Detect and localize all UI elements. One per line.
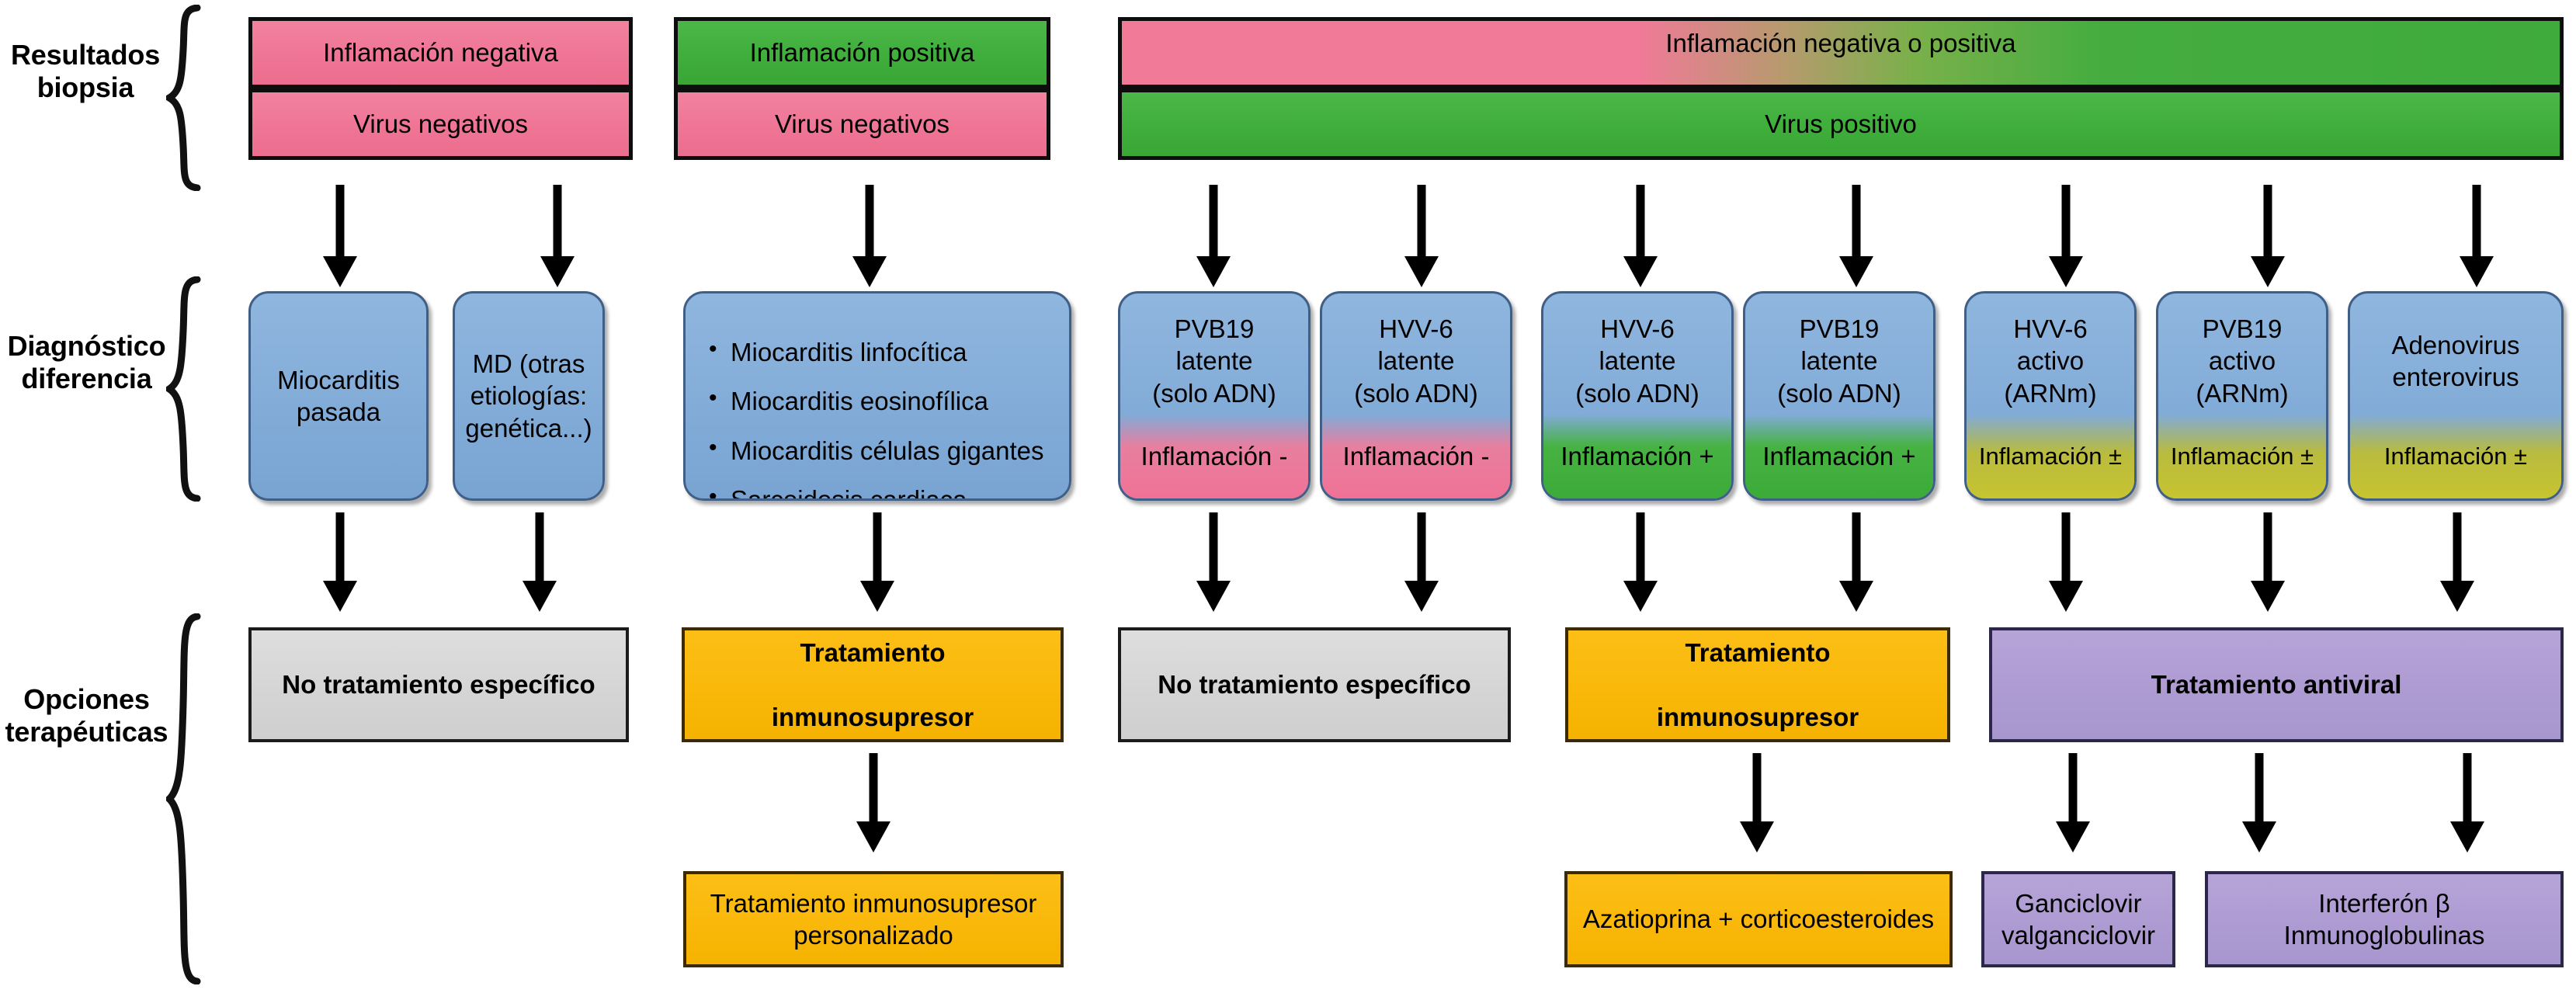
diag-hvv6-activo: HVV-6 activo (ARNm) Inflamación ± <box>1964 291 2137 501</box>
arrow-diag8-to-tx5 <box>2048 512 2084 612</box>
list-item: Miocarditis linfocítica <box>707 336 1054 368</box>
diag-status-badge: Inflamación + <box>1543 415 1731 498</box>
diag-title: HVV-6 latente (solo ADN) <box>1322 293 1510 415</box>
diag-pvb19-activo: PVB19 activo (ARNm) Inflamación ± <box>2156 291 2328 501</box>
arrow-biopsy3-to-diag10 <box>2459 185 2494 287</box>
diag-hvv6-latente-2: HVV-6 latente (solo ADN) Inflamación + <box>1541 291 1734 501</box>
tx-inmunosupresor-1: Tratamiento inmunosupresor <box>682 627 1064 742</box>
list-item: Miocarditis eosinofílica <box>707 385 1054 417</box>
diag-title: PVB19 latente (solo ADN) <box>1120 293 1308 415</box>
flowchart-canvas: Resultados biopsia Diagnóstico diferenci… <box>0 0 2576 1000</box>
arrow-biopsy3-to-diag7 <box>1838 185 1874 287</box>
biopsy-inflammation-3: Inflamación negativa o positiva <box>1118 17 2564 89</box>
diag-status-badge: Inflamación - <box>1120 415 1308 498</box>
diag-status-badge: Inflamación + <box>1745 415 1933 498</box>
diag-status-badge: Inflamación ± <box>2158 415 2326 498</box>
list-item: Sarcoidosis cardiaca <box>707 484 1054 501</box>
row-label-diagnostico-diferencia: Diagnóstico diferencia <box>3 330 170 396</box>
biopsy-virus-1: Virus negativos <box>248 89 633 160</box>
tx-azatioprina: Azatioprina + corticoesteroides <box>1564 871 1953 967</box>
diag-adenovirus-enterovirus: Adenovirus enterovirus Inflamación ± <box>2348 291 2564 501</box>
biopsy-inflammation-1: Inflamación negativa <box>248 17 633 89</box>
diag-title: PVB19 latente (solo ADN) <box>1745 293 1933 415</box>
row-label-opciones-terapeuticas: Opciones terapéuticas <box>3 683 170 749</box>
arrow-diag6-to-tx4 <box>1623 512 1658 612</box>
arrow-diag9-to-tx5 <box>2250 512 2286 612</box>
tx-interferon: Interferón β Inmunoglobulinas <box>2205 871 2564 967</box>
tx-no-tratamiento-2: No tratamiento específico <box>1118 627 1511 742</box>
diag-title: Miocarditis pasada <box>251 293 426 498</box>
arrow-tx5-to-interferon-b <box>2449 753 2485 852</box>
arrow-biopsy1-to-diag2 <box>540 185 575 287</box>
diag-md-otras-etiologias: MD (otras etiologías: genética...) <box>453 291 605 501</box>
tx-inmunosupresor-2: Tratamiento inmunosupresor <box>1565 627 1950 742</box>
tx-antiviral: Tratamiento antiviral <box>1989 627 2564 742</box>
diag-pvb19-latente-1: PVB19 latente (solo ADN) Inflamación - <box>1118 291 1311 501</box>
arrow-diag5-to-tx3 <box>1404 512 1439 612</box>
brace-resultados-biopsia <box>166 5 202 191</box>
tx-inmunosupresor-personalizado: Tratamiento inmunosupresor personalizado <box>683 871 1064 967</box>
diag-pvb19-latente-2: PVB19 latente (solo ADN) Inflamación + <box>1743 291 1935 501</box>
arrow-diag7-to-tx4 <box>1838 512 1874 612</box>
diag-title: Adenovirus enterovirus <box>2350 293 2561 415</box>
diag-status-badge: Inflamación ± <box>2350 415 2561 498</box>
arrow-biopsy3-to-diag4 <box>1196 185 1231 287</box>
arrow-tx5-to-ganciclovir <box>2055 753 2091 852</box>
arrow-biopsy2-to-diag3 <box>852 185 887 287</box>
diag-hvv6-latente-1: HVV-6 latente (solo ADN) Inflamación - <box>1320 291 1512 501</box>
arrow-biopsy1-to-diag1 <box>322 185 358 287</box>
diag-title: HVV-6 activo (ARNm) <box>1967 293 2134 415</box>
diag-lista-miocarditis: Miocarditis linfocítica Miocarditis eosi… <box>683 291 1071 501</box>
biopsy-inflammation-2: Inflamación positiva <box>674 17 1050 89</box>
arrow-diag2-to-tx1 <box>522 512 557 612</box>
list-item: Miocarditis células gigantes <box>707 435 1054 467</box>
arrow-diag3-to-tx2 <box>859 512 895 612</box>
arrow-diag1-to-tx1 <box>322 512 358 612</box>
arrow-tx5-to-interferon-a <box>2241 753 2277 852</box>
diag-title: HVV-6 latente (solo ADN) <box>1543 293 1731 415</box>
tx-ganciclovir: Ganciclovir valganciclovir <box>1981 871 2175 967</box>
diag-miocarditis-pasada: Miocarditis pasada <box>248 291 429 501</box>
diag-status-badge: Inflamación - <box>1322 415 1510 498</box>
diag-title: MD (otras etiologías: genética...) <box>455 293 602 498</box>
biopsy-virus-2: Virus negativos <box>674 89 1050 160</box>
arrow-biopsy3-to-diag6 <box>1623 185 1658 287</box>
row-label-resultados-biopsia: Resultados biopsia <box>8 39 163 105</box>
tx-no-tratamiento-1: No tratamiento específico <box>248 627 629 742</box>
arrow-diag4-to-tx3 <box>1196 512 1231 612</box>
arrow-biopsy3-to-diag8 <box>2048 185 2084 287</box>
brace-opciones-terapeuticas <box>166 613 202 984</box>
brace-diagnostico-diferencia <box>166 276 202 502</box>
arrow-tx4-to-azatioprina <box>1739 753 1775 852</box>
arrow-tx2-to-personalizado <box>856 753 891 852</box>
diag-title: PVB19 activo (ARNm) <box>2158 293 2326 415</box>
arrow-diag10-to-tx5 <box>2439 512 2475 612</box>
diag-bullet-list: Miocarditis linfocítica Miocarditis eosi… <box>686 319 1069 501</box>
biopsy-virus-3: Virus positivo <box>1118 89 2564 160</box>
arrow-biopsy3-to-diag5 <box>1404 185 1439 287</box>
arrow-biopsy3-to-diag9 <box>2250 185 2286 287</box>
diag-status-badge: Inflamación ± <box>1967 415 2134 498</box>
